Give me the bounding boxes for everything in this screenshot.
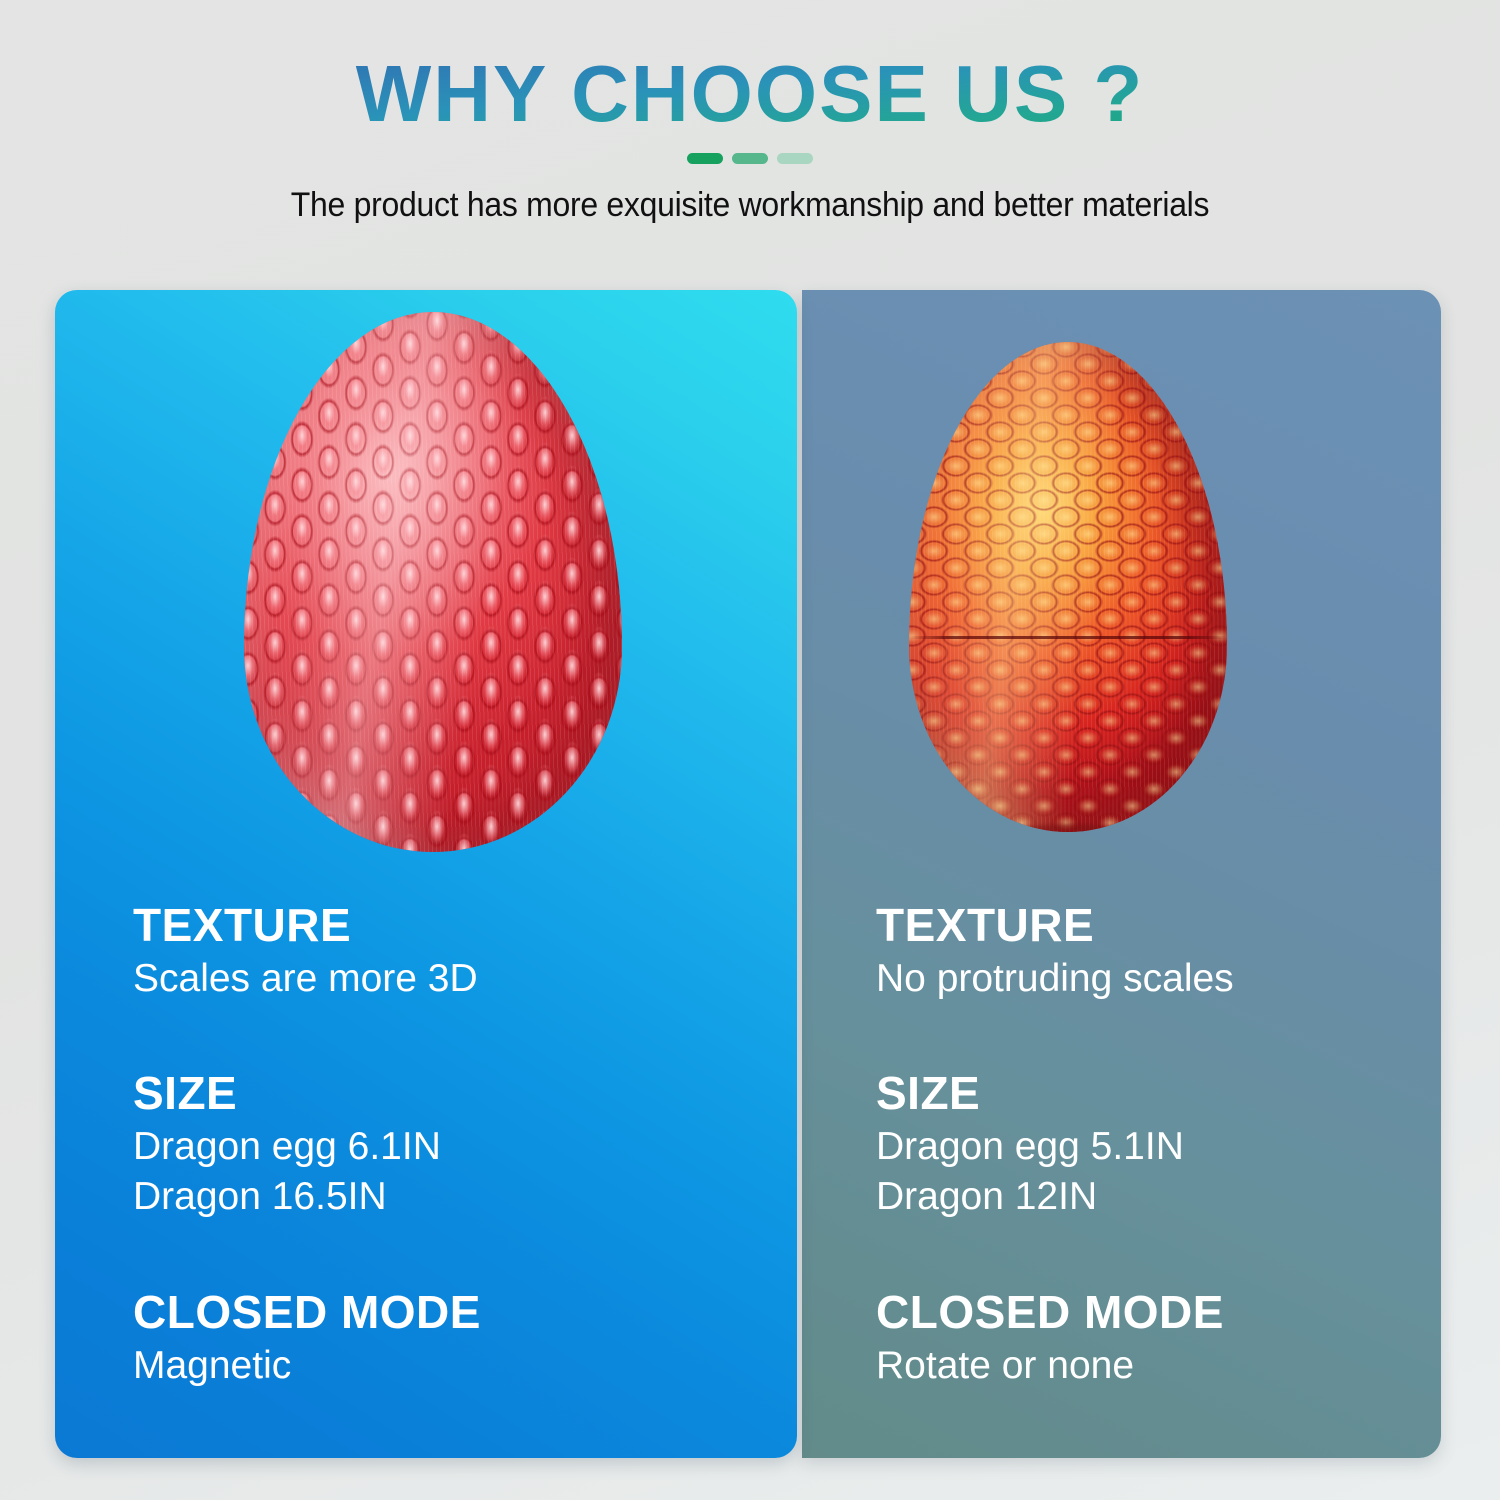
egg-base-shadow xyxy=(1023,824,1112,832)
spec-value-size-egg: Dragon egg 6.1IN xyxy=(133,1122,733,1173)
spec-group-closed-mode: CLOSED MODE Rotate or none xyxy=(876,1287,1441,1391)
comparison-panel-others: TEXTURE No protruding scales SIZE Dragon… xyxy=(802,290,1441,1458)
spec-title-size: SIZE xyxy=(133,1068,733,1120)
egg-sheen xyxy=(244,312,622,852)
page-title: WHY CHOOSE US ? xyxy=(0,0,1500,137)
accent-dash-2 xyxy=(732,153,768,164)
accent-dash-3 xyxy=(777,153,813,164)
egg-scale-edges xyxy=(909,342,1227,832)
comparison-panels: TEXTURE Scales are more 3D SIZE Dragon e… xyxy=(55,290,1441,1458)
dragon-egg-3d-scales-icon xyxy=(244,312,622,852)
spec-title-texture: TEXTURE xyxy=(876,900,1441,952)
spec-title-texture: TEXTURE xyxy=(133,900,733,952)
dragon-egg-flat-scales-icon xyxy=(909,342,1227,832)
egg-scale-pattern xyxy=(244,312,622,852)
spec-list-others: TEXTURE No protruding scales SIZE Dragon… xyxy=(876,900,1441,1391)
spec-value-closed-mode: Rotate or none xyxy=(876,1341,1441,1392)
spec-value-size-dragon: Dragon 12IN xyxy=(876,1172,1441,1223)
spec-group-size: SIZE Dragon egg 5.1IN Dragon 12IN xyxy=(876,1068,1441,1223)
spec-group-texture: TEXTURE No protruding scales xyxy=(876,900,1441,1004)
spec-title-closed-mode: CLOSED MODE xyxy=(876,1287,1441,1339)
spec-value-size-dragon: Dragon 16.5IN xyxy=(133,1172,733,1223)
accent-dash-1 xyxy=(687,153,723,164)
spec-title-closed-mode: CLOSED MODE xyxy=(133,1287,733,1339)
product-image-ours xyxy=(55,290,797,890)
product-image-others xyxy=(802,290,1441,890)
header: WHY CHOOSE US ? The product has more exq… xyxy=(0,0,1500,278)
spec-value-closed-mode: Magnetic xyxy=(133,1341,733,1392)
spec-list-ours: TEXTURE Scales are more 3D SIZE Dragon e… xyxy=(133,900,733,1391)
egg-seam-line xyxy=(909,636,1227,639)
spec-group-size: SIZE Dragon egg 6.1IN Dragon 16.5IN xyxy=(133,1068,733,1223)
egg-sheen xyxy=(909,342,1227,832)
accent-dashes xyxy=(0,153,1500,164)
comparison-panel-ours: TEXTURE Scales are more 3D SIZE Dragon e… xyxy=(55,290,797,1458)
spec-value-texture: Scales are more 3D xyxy=(133,954,733,1005)
egg-scale-edges xyxy=(244,312,622,852)
spec-value-size-egg: Dragon egg 5.1IN xyxy=(876,1122,1441,1173)
spec-group-closed-mode: CLOSED MODE Magnetic xyxy=(133,1287,733,1391)
spec-title-size: SIZE xyxy=(876,1068,1441,1120)
spec-value-texture: No protruding scales xyxy=(876,954,1441,1005)
egg-scale-pattern xyxy=(909,342,1227,832)
page-subtitle: The product has more exquisite workmansh… xyxy=(45,164,1455,225)
spec-group-texture: TEXTURE Scales are more 3D xyxy=(133,900,733,1004)
